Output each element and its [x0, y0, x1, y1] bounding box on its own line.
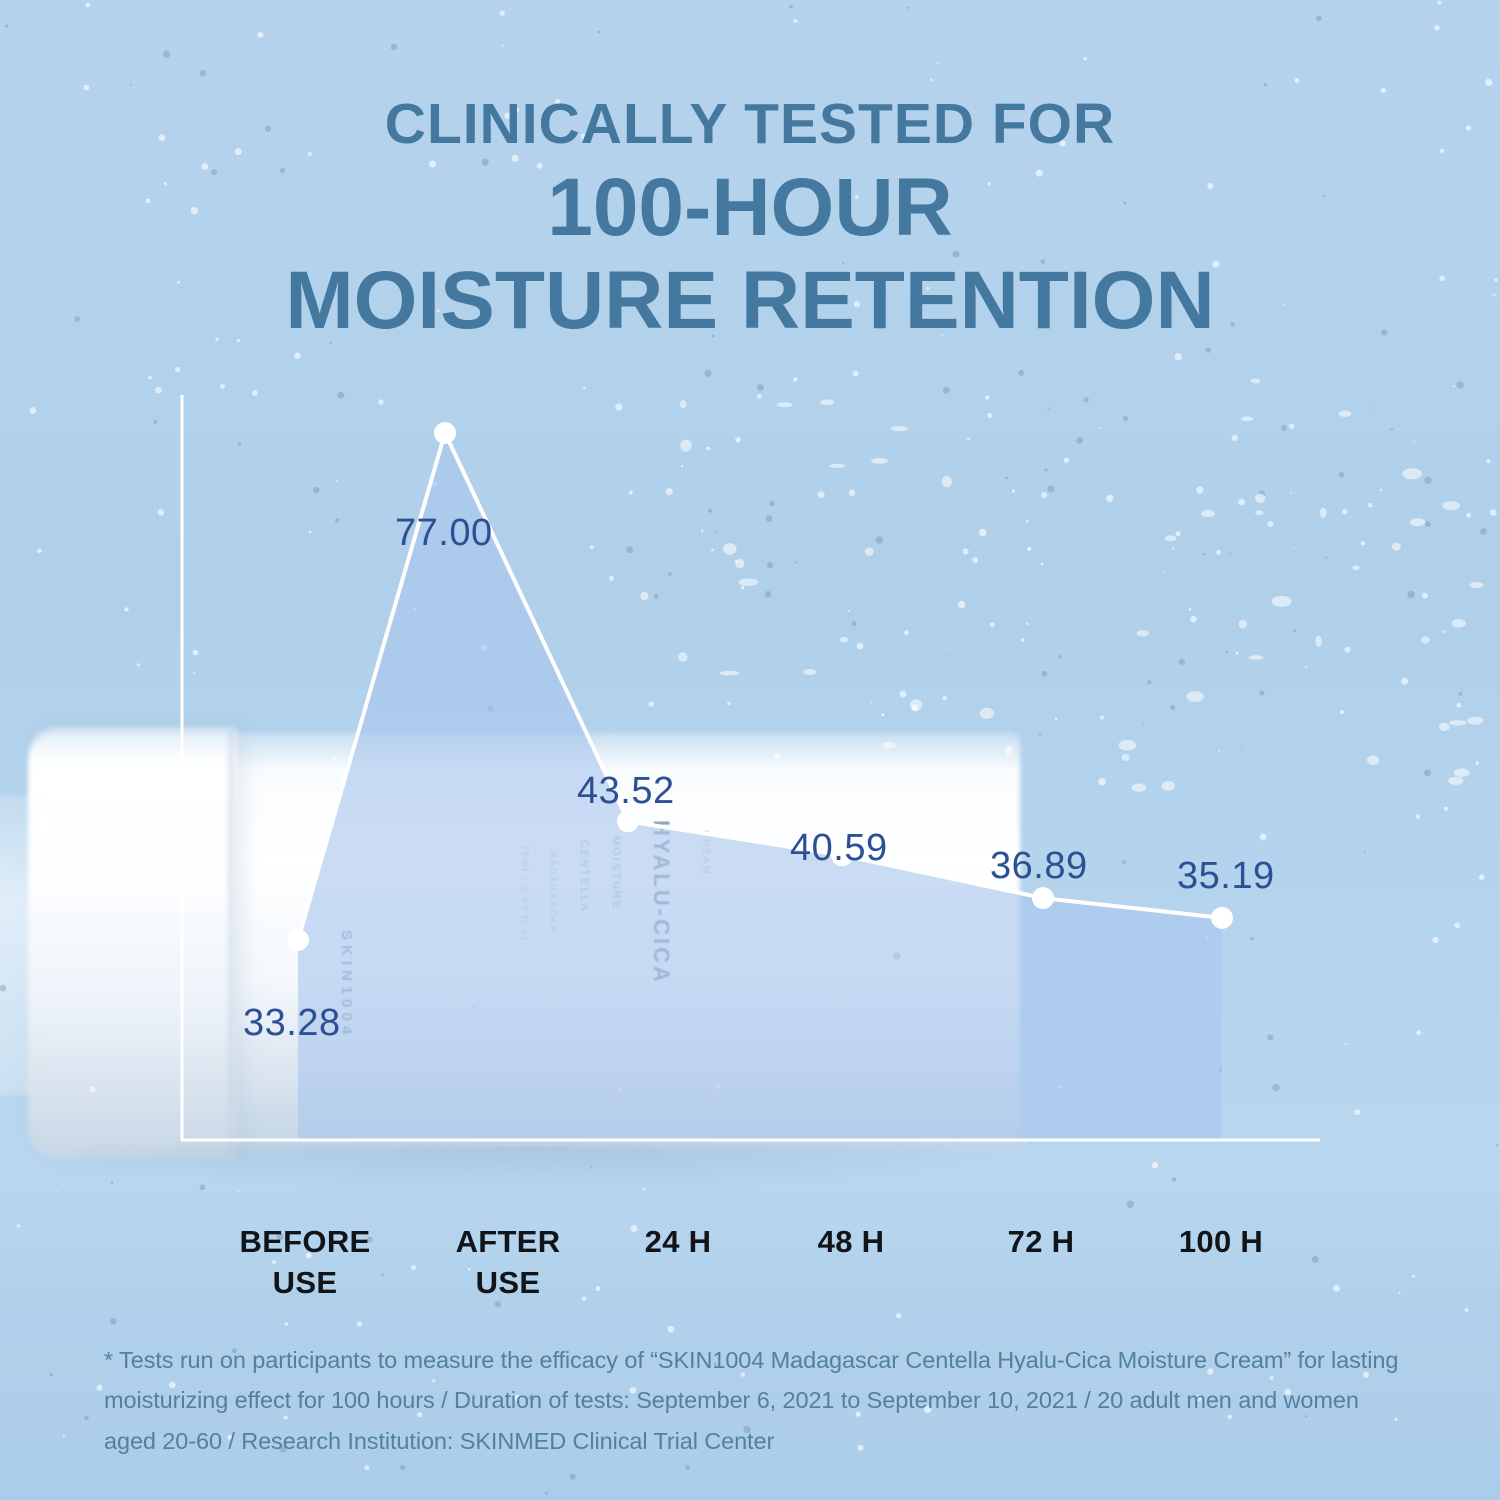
chart-category-label-line1: 72 H: [1008, 1222, 1075, 1263]
chart-value-label: 36.89: [990, 845, 1088, 888]
chart-value-label: 77.00: [395, 512, 493, 555]
chart-category-label-line1: 48 H: [818, 1222, 885, 1263]
headline-line-2: 100-HOUR: [0, 161, 1500, 254]
chart-category-label: 72 H: [1008, 1222, 1075, 1263]
chart-category-label-line1: 24 H: [645, 1222, 712, 1263]
chart-value-label: 33.28: [243, 1002, 341, 1045]
chart-value-label: 35.19: [1177, 855, 1275, 898]
page-title: CLINICALLY TESTED FOR 100-HOUR MOISTURE …: [0, 96, 1500, 348]
chart-category-label: BEFOREUSE: [240, 1222, 371, 1304]
chart-category-label: AFTERUSE: [456, 1222, 561, 1304]
chart-category-label: 48 H: [818, 1222, 885, 1263]
chart-category-label-line1: 100 H: [1179, 1222, 1263, 1263]
chart-data-point[interactable]: [1032, 887, 1054, 909]
chart-data-point[interactable]: [617, 810, 639, 832]
chart-value-label: 43.52: [577, 770, 675, 813]
chart-category-label: 100 H: [1179, 1222, 1263, 1263]
chart-category-label-line1: AFTER: [456, 1222, 561, 1263]
chart-data-point[interactable]: [287, 929, 309, 951]
chart-data-point[interactable]: [1211, 907, 1233, 929]
chart-category-label: 24 H: [645, 1222, 712, 1263]
headline-line-1: CLINICALLY TESTED FOR: [0, 96, 1500, 153]
footnote-text: * Tests run on participants to measure t…: [104, 1340, 1414, 1461]
chart-value-label: 40.59: [790, 827, 888, 870]
chart-category-label-line2: USE: [456, 1263, 561, 1304]
headline-line-3: MOISTURE RETENTION: [0, 254, 1500, 347]
chart-category-label-line1: BEFORE: [240, 1222, 371, 1263]
chart-category-label-line2: USE: [240, 1263, 371, 1304]
chart-data-point[interactable]: [434, 422, 456, 444]
